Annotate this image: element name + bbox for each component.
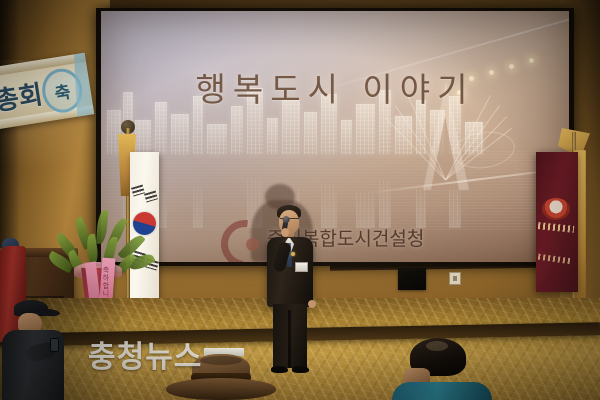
ceremonial-organization-flag xyxy=(536,152,578,292)
wall-mounted-speaker xyxy=(398,268,426,290)
person-in-teal-shirt xyxy=(396,338,488,400)
power-outlet xyxy=(449,272,461,285)
fedora-brim xyxy=(166,378,276,400)
flag-text-band-lower xyxy=(538,254,573,265)
presenter xyxy=(262,204,318,376)
name-badge xyxy=(295,262,308,272)
presenter-shoe-right xyxy=(292,366,309,373)
presenter-trousers xyxy=(273,304,307,368)
projection-screen: 행복도시 이야기 중심복합도시건설청 xyxy=(101,11,569,262)
person-with-cap-using-phone xyxy=(0,296,80,400)
fedora-crease xyxy=(200,356,242,365)
banner-main-text: 총회 xyxy=(0,74,45,118)
smartphone-icon xyxy=(50,338,59,352)
hair-highlight xyxy=(426,341,448,351)
photo-canvas: 행복도시 이야기 중심복합도시건설청 총회 축 xyxy=(0,0,600,400)
banner-seal-text: 축 xyxy=(53,77,72,104)
lapel-pin-icon xyxy=(291,252,295,256)
presenter-hand-right xyxy=(308,300,316,308)
flag-text-band xyxy=(538,222,575,233)
news-watermark: 충청뉴스 xyxy=(88,332,202,376)
flag-emblem-icon xyxy=(542,198,570,220)
presenter-hand xyxy=(281,228,289,237)
teal-shirt xyxy=(392,382,492,400)
screen-vignette xyxy=(101,11,569,262)
